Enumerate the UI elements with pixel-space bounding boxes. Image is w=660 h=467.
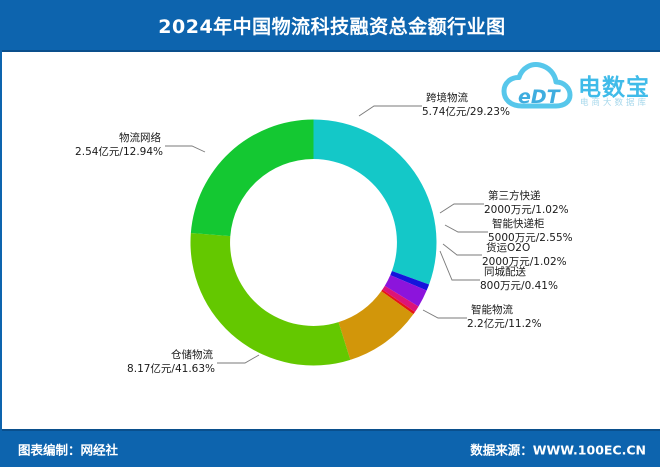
leader-kuaidigui xyxy=(445,225,488,232)
label-name: 同城配送 xyxy=(480,266,558,280)
label-name: 智能快递柜 xyxy=(488,218,573,232)
label-value: 2000万元/1.02% xyxy=(484,204,569,218)
footer-credit: 图表编制：网经社 xyxy=(18,440,118,459)
label-name: 智能物流 xyxy=(467,304,542,318)
leader-tongcheng xyxy=(440,251,480,280)
label-name: 仓储物流 xyxy=(127,349,215,363)
chart-page: 2024年中国物流科技融资总金额行业图 eDT 电数宝 电商大数据库 xyxy=(0,0,660,467)
donut-svg xyxy=(181,110,446,375)
label-disanfang-kuaidi: 第三方快递 2000万元/1.02% xyxy=(484,190,569,218)
label-name: 货运O2O xyxy=(482,242,567,256)
label-tongcheng-peisong: 同城配送 800万元/0.41% xyxy=(480,266,558,294)
slice-cangchu-wuliu xyxy=(190,233,350,365)
label-name: 第三方快递 xyxy=(484,190,569,204)
chart-body: eDT 电数宝 电商大数据库 xyxy=(2,52,660,429)
leader-huoyun xyxy=(443,244,482,255)
label-value: 2.2亿元/11.2% xyxy=(467,318,542,332)
footer-source: 数据来源：WWW.100EC.CN xyxy=(470,440,646,459)
label-wuliu-wangluo: 物流网络 2.54亿元/12.94% xyxy=(75,132,163,160)
page-footer: 图表编制：网经社 数据来源：WWW.100EC.CN xyxy=(2,429,660,467)
label-cangchu-wuliu: 仓储物流 8.17亿元/41.63% xyxy=(127,349,215,377)
watermark-subtitle: 电商大数据库 xyxy=(580,96,649,108)
leader-disanfang xyxy=(440,204,484,213)
donut-chart xyxy=(181,110,446,375)
label-name: 物流网络 xyxy=(75,132,163,146)
page-header: 2024年中国物流科技融资总金额行业图 xyxy=(2,0,660,52)
label-kuajing-wuliu: 跨境物流 5.74亿元/29.23% xyxy=(422,92,510,120)
page-title: 2024年中国物流科技融资总金额行业图 xyxy=(158,12,505,39)
watermark-logo: eDT 电数宝 电商大数据库 xyxy=(500,60,652,120)
label-value: 8.17亿元/41.63% xyxy=(127,363,215,377)
slice-wuliu-wangluo xyxy=(191,120,314,237)
label-value: 2.54亿元/12.94% xyxy=(75,146,163,160)
slice-kuajing-wuliu xyxy=(314,120,437,285)
label-name: 跨境物流 xyxy=(422,92,510,106)
label-value: 800万元/0.41% xyxy=(480,280,558,294)
label-zhineng-wuliu: 智能物流 2.2亿元/11.2% xyxy=(467,304,542,332)
label-value: 5.74亿元/29.23% xyxy=(422,106,510,120)
watermark-mark: eDT xyxy=(518,86,560,108)
